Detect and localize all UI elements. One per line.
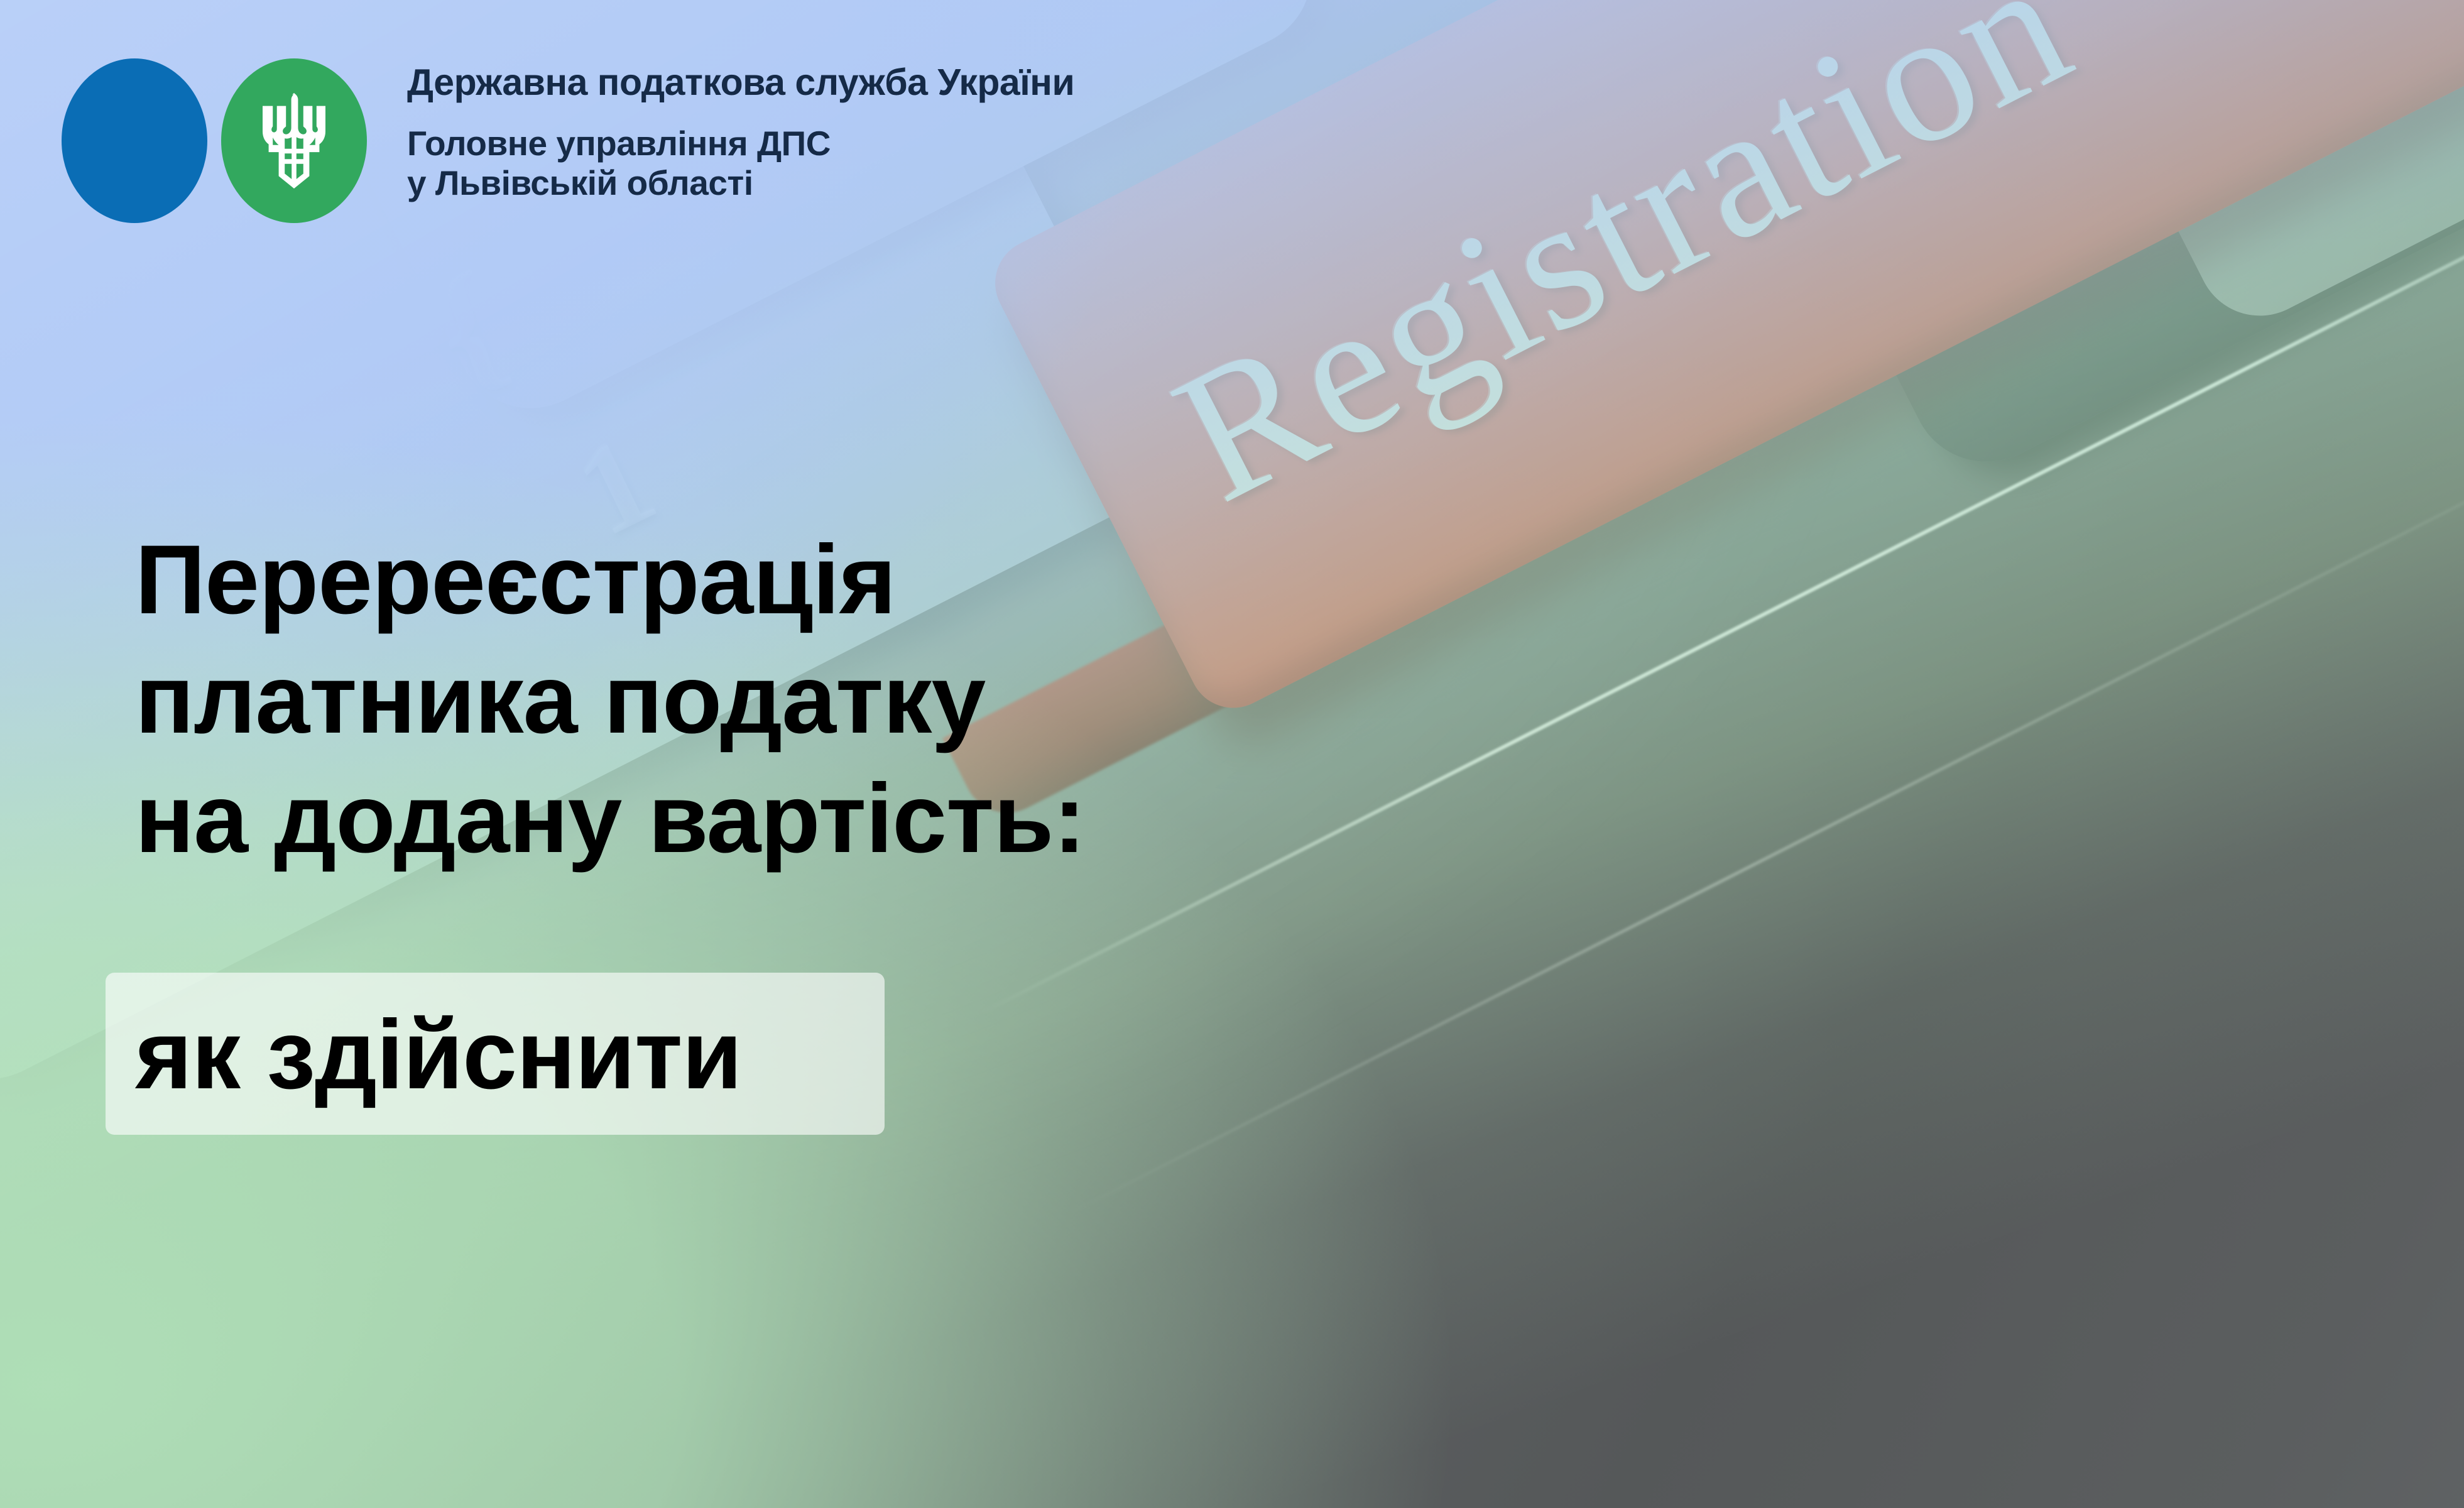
logo-blue-circle-icon [62, 58, 207, 223]
headline-highlight-text: як здійснити [135, 1003, 741, 1107]
brand-line-2: Головне управління ДПС [407, 124, 1074, 163]
ukrainian-trident-icon [256, 93, 332, 188]
logo-green-circle-icon [221, 58, 367, 223]
headline-line-2: платника податку [135, 640, 1085, 759]
brand-header: Державна податкова служба України Головн… [0, 0, 1074, 223]
brand-line-1: Державна податкова служба України [407, 63, 1074, 102]
poster-canvas: { 1 3 1 6 Registration Державна податков… [0, 0, 2464, 1508]
brand-line-3: у Львівській області [407, 163, 1074, 203]
logo [62, 58, 367, 223]
headline-line-3: на додану вартість: [135, 759, 1085, 878]
headline-line-1: Перереєстрація [135, 520, 1085, 640]
brand-text-block: Державна податкова служба України Головн… [407, 58, 1074, 202]
headline: Перереєстрація платника податку на додан… [135, 520, 1085, 878]
